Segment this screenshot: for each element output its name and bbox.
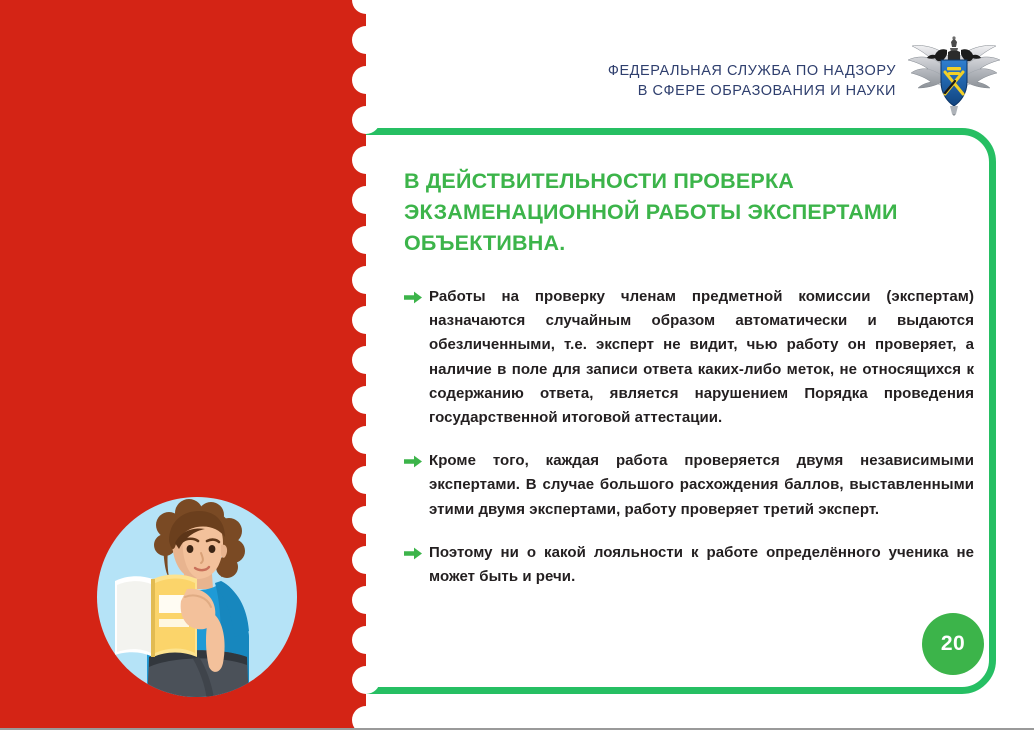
slide-root: МИФ О ЕГЭ «МОЖНО ДОГОВОРИТЬСЯ С ЧЛЕНОМ П… [0, 0, 1034, 734]
content-paragraph-text: Кроме того, каждая работа проверяется дв… [429, 452, 974, 517]
content-heading-line: ЭКЗАМЕНАЦИОННОЙ РАБОТЫ ЭКСПЕРТАМИ [404, 197, 974, 228]
green-right-arrow-icon [404, 547, 422, 560]
organization-line-1: ФЕДЕРАЛЬНАЯ СЛУЖБА ПО НАДЗОРУ [608, 61, 896, 81]
green-right-arrow-icon [404, 291, 422, 304]
content-heading-line: В ДЕЙСТВИТЕЛЬНОСТИ ПРОВЕРКА [404, 166, 974, 197]
content-paragraph-text: Работы на проверку членам предметной ком… [429, 288, 974, 426]
girl-reading-book-illustration [97, 497, 297, 697]
content-paragraph: Работы на проверку членам предметной ком… [404, 285, 974, 430]
organization-line-2: В СФЕРЕ ОБРАЗОВАНИЯ И НАУКИ [608, 81, 896, 101]
content-paragraph-text: Поэтому ни о какой лояльности к работе о… [429, 544, 974, 585]
page-number-badge: 20 [922, 613, 984, 675]
content-heading: В ДЕЙСТВИТЕЛЬНОСТИ ПРОВЕРКА ЭКЗАМЕНАЦИОН… [404, 166, 974, 259]
content-heading-line: ОБЪЕКТИВНА. [404, 228, 974, 259]
rosobrnadzor-eagle-logo-icon [904, 36, 1004, 116]
green-right-arrow-icon [404, 455, 422, 468]
content-card-body: В ДЕЙСТВИТЕЛЬНОСТИ ПРОВЕРКА ЭКЗАМЕНАЦИОН… [404, 166, 974, 589]
bottom-divider [0, 728, 1034, 730]
content-paragraph: Поэтому ни о какой лояльности к работе о… [404, 541, 974, 589]
content-paragraph: Кроме того, каждая работа проверяется дв… [404, 449, 974, 522]
organization-name: ФЕДЕРАЛЬНАЯ СЛУЖБА ПО НАДЗОРУ В СФЕРЕ ОБ… [608, 61, 896, 101]
